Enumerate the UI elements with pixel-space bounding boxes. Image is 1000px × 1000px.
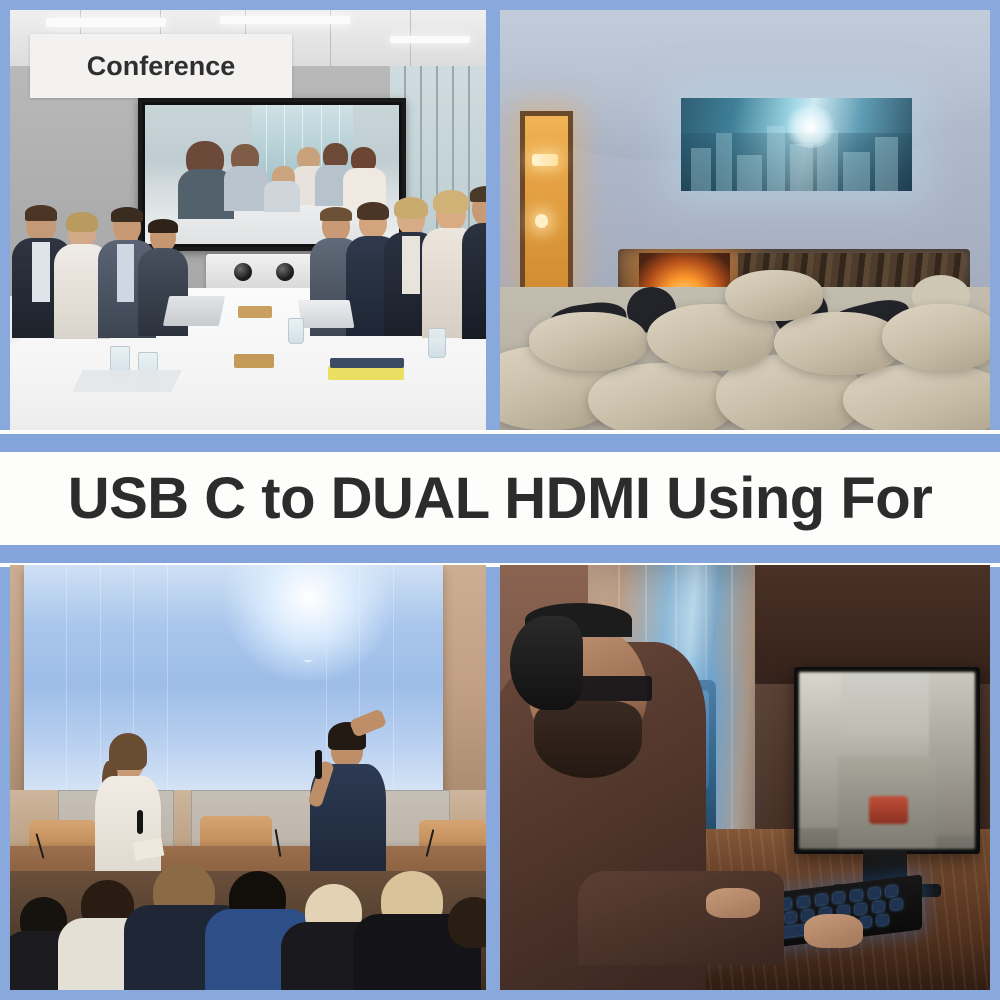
gamer-hand xyxy=(804,914,863,948)
table-connector xyxy=(238,306,272,318)
paper-tray xyxy=(72,370,182,392)
table-connector xyxy=(234,354,274,368)
beard xyxy=(534,701,642,778)
presenter-woman xyxy=(91,739,167,892)
gamer-arm xyxy=(578,871,784,965)
home-theater-photo xyxy=(500,10,990,430)
laptop xyxy=(163,296,225,326)
tablet xyxy=(298,300,355,328)
notebook xyxy=(330,358,404,368)
gamer-hand xyxy=(706,888,760,918)
water-glass xyxy=(288,318,304,344)
divider-blue-lower xyxy=(0,545,1000,563)
panel-home-theater: Home Theater xyxy=(500,10,990,430)
water-glass xyxy=(428,328,446,358)
presenter-man xyxy=(305,718,391,897)
conference-camera-bar xyxy=(206,254,326,290)
caption-conference: Conference xyxy=(30,34,292,98)
product-feature-collage: Conference xyxy=(0,0,1000,1000)
gaming-monitor xyxy=(794,667,980,854)
panel-entertainment-games: Entertainment Games xyxy=(500,565,990,990)
divider-blue-upper xyxy=(0,434,1000,452)
headphone-earcup-icon xyxy=(510,616,584,710)
panel-college-lectures: College Lectures xyxy=(10,565,486,990)
attendee xyxy=(462,190,486,338)
page-title: USB C to DUAL HDMI Using For xyxy=(0,452,1000,545)
doorway xyxy=(520,111,574,296)
gaming-photo xyxy=(500,565,990,990)
notebook xyxy=(328,366,404,380)
college-lecture-photo xyxy=(10,565,486,990)
caption-conference-label: Conference xyxy=(87,51,236,82)
panel-conference: Conference xyxy=(10,10,486,430)
projection-screen xyxy=(681,98,911,190)
